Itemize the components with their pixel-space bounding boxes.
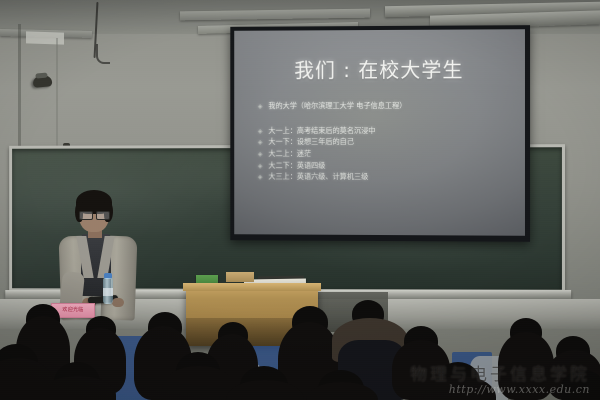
list-item: ◈ 大一上：高考结束后的莫名沉浸中 [258,127,513,136]
list-item: ◈ 大三上：英语六级、计算机三级 [258,173,513,182]
hanging-cable-loop [96,44,110,64]
list-item: ◈ 大一下：设想三年后的自己 [258,138,513,147]
bullet-icon: ◈ [258,128,263,135]
audience-head [498,332,554,400]
bullet-icon: ◈ [258,162,263,169]
bullet-icon: ◈ [258,151,263,158]
list-item-label: 大一上：高考结束后的莫名沉浸中 [268,127,375,136]
podium-top [183,283,321,291]
bullet-icon: ◈ [258,103,263,110]
list-item: ◈ 大二下：英语四级 [258,161,513,170]
glasses-icon [79,211,110,218]
wall-seam [56,38,58,158]
list-item-label: 大一下：设想三年后的自己 [268,138,354,147]
list-item: ◈ 我的大学（哈尔滨理工大学 电子信息工程） [258,102,513,111]
book [226,272,254,282]
lecture-hall-photo: 我们 : 在校大学生 ◈ 我的大学（哈尔滨理工大学 电子信息工程） ◈ 大一上：… [0,0,600,400]
bullet-icon: ◈ [258,139,263,146]
camera-icon [33,75,53,88]
list-item: ◈ 大二上：迷茫 [258,150,513,159]
bottle-label [103,288,113,296]
list-item-label: 大二下：英语四级 [268,161,325,170]
ceiling-panel [26,31,64,44]
list-item-label: 大二上：迷茫 [268,150,311,159]
list-item-label: 大三上：英语六级、计算机三级 [268,173,368,182]
slide-title: 我们 : 在校大学生 [234,53,525,83]
slide-bullet-list: ◈ 我的大学（哈尔滨理工大学 电子信息工程） ◈ 大一上：高考结束后的莫名沉浸中… [258,102,513,185]
projection-screen: 我们 : 在校大学生 ◈ 我的大学（哈尔滨理工大学 电子信息工程） ◈ 大一上：… [230,25,530,242]
list-item-label: 我的大学（哈尔滨理工大学 电子信息工程） [268,102,406,111]
bullet-icon: ◈ [258,174,263,181]
audience [0,300,600,400]
screen-surface: 我们 : 在校大学生 ◈ 我的大学（哈尔滨理工大学 电子信息工程） ◈ 大一上：… [234,29,525,236]
wall-seam [18,24,21,164]
